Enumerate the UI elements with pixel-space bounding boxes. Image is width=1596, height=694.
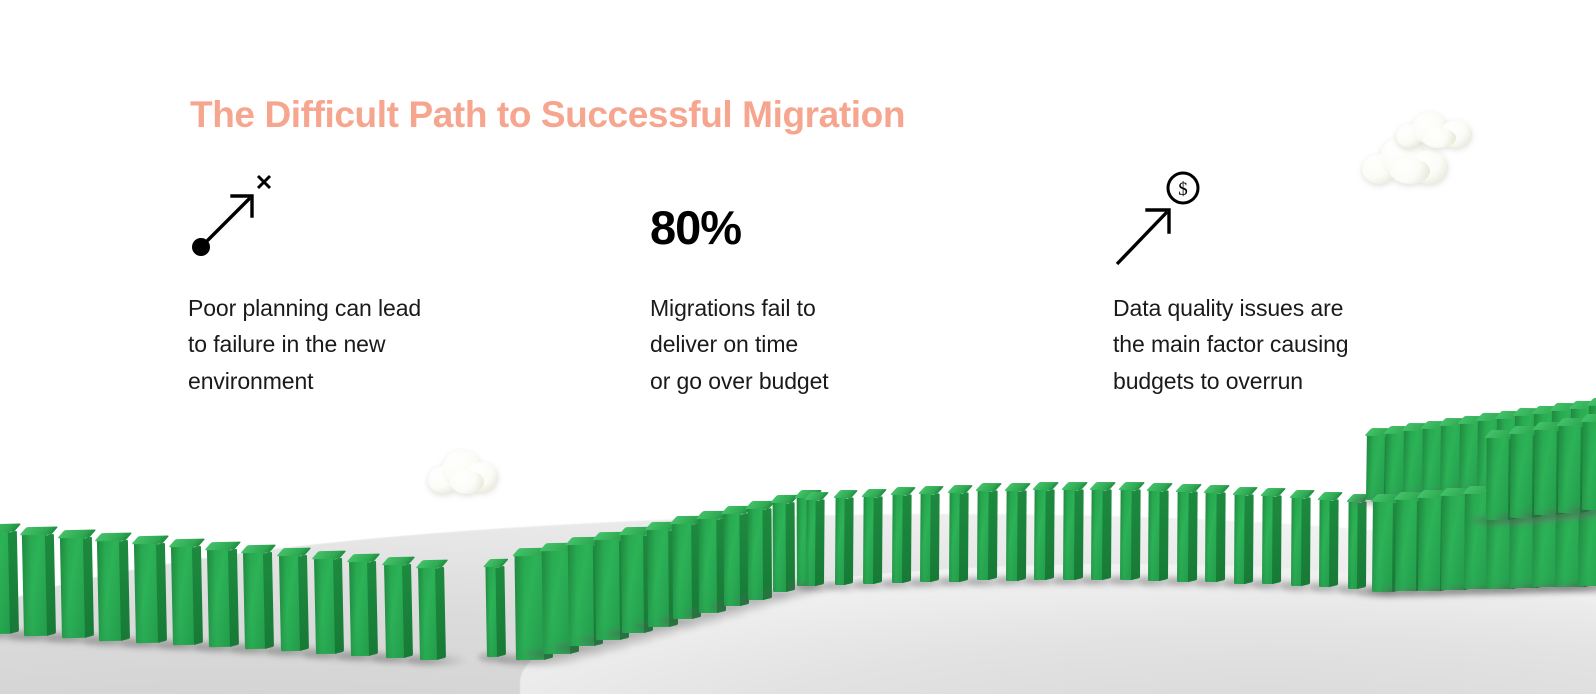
stat-value-80-percent: 80% bbox=[650, 204, 741, 251]
stat-column-1-line-2: to failure in the new bbox=[188, 326, 518, 362]
domino-shadow bbox=[1371, 491, 1434, 506]
stat-column-1-line-3: environment bbox=[188, 363, 518, 399]
stat-column-3-line-2: the main factor causing bbox=[1113, 326, 1443, 362]
stat-column-1-line-1: Poor planning can lead bbox=[188, 290, 518, 326]
cloud-small-top-right-icon bbox=[1396, 110, 1482, 150]
domino-tile bbox=[1459, 421, 1482, 491]
domino-shadow bbox=[1494, 511, 1566, 526]
domino-shadow bbox=[1425, 486, 1492, 501]
domino-tile bbox=[1582, 420, 1596, 510]
stat-column-3-text: Data quality issues are the main factor … bbox=[1113, 290, 1443, 399]
domino-tile bbox=[1551, 409, 1577, 482]
domino-shadow bbox=[1352, 493, 1414, 508]
domino-tile bbox=[1366, 434, 1387, 500]
domino-tile bbox=[1534, 428, 1559, 515]
domino-shadow bbox=[1516, 477, 1589, 492]
stat-column-3-visual: $ bbox=[1113, 170, 1473, 282]
domino-tile bbox=[1422, 426, 1444, 494]
domino-tile bbox=[1403, 429, 1425, 497]
arrow-up-right-with-dollar-icon: $ bbox=[1113, 170, 1203, 270]
domino-tile bbox=[1496, 416, 1520, 487]
stats-columns: Poor planning can lead to failure in the… bbox=[0, 170, 1596, 410]
stat-column-1-visual bbox=[188, 170, 548, 282]
domino-shadow bbox=[1480, 480, 1550, 495]
domino-tile bbox=[1510, 432, 1535, 518]
stat-column-2-line-2: deliver on time bbox=[650, 326, 980, 362]
domino-shadow bbox=[1407, 488, 1473, 503]
stat-column-2-line-3: or go over budget bbox=[650, 363, 980, 399]
domino-shadow bbox=[1553, 473, 1596, 488]
domino-shadow bbox=[1542, 506, 1596, 521]
stat-column-2: 80% Migrations fail to deliver on time o… bbox=[650, 170, 1010, 410]
domino-shadow bbox=[1444, 484, 1512, 499]
domino-shadow bbox=[1462, 482, 1531, 497]
domino-tile bbox=[1486, 436, 1511, 520]
domino-shadow bbox=[1571, 471, 1596, 486]
stat-column-1: Poor planning can lead to failure in the… bbox=[188, 170, 548, 410]
domino-tile bbox=[1514, 414, 1539, 486]
domino-shadow bbox=[1518, 508, 1590, 523]
domino-tile bbox=[1440, 424, 1463, 493]
arrow-up-right-with-x-icon bbox=[188, 170, 274, 262]
domino-tile bbox=[1558, 424, 1583, 513]
domino-shadow bbox=[1498, 478, 1570, 493]
stat-column-1-text: Poor planning can lead to failure in the… bbox=[188, 290, 518, 399]
domino-shadow bbox=[1535, 475, 1596, 490]
domino-shadow bbox=[1470, 513, 1542, 528]
stat-column-2-text: Migrations fail to deliver on time or go… bbox=[650, 290, 980, 399]
slide-canvas: The Difficult Path to Successful Migrati… bbox=[0, 0, 1596, 694]
domino-tile bbox=[1385, 431, 1406, 498]
cloud-small-mid-icon bbox=[428, 446, 500, 494]
stat-column-3-line-3: budgets to overrun bbox=[1113, 363, 1443, 399]
domino-shadow bbox=[1389, 489, 1453, 504]
domino-tile bbox=[1588, 404, 1596, 478]
domino-tile bbox=[1477, 419, 1501, 489]
stat-column-3-line-1: Data quality issues are bbox=[1113, 290, 1443, 326]
page-title: The Difficult Path to Successful Migrati… bbox=[190, 94, 905, 137]
domino-tile bbox=[1570, 406, 1596, 480]
stat-column-2-line-1: Migrations fail to bbox=[650, 290, 980, 326]
svg-text:$: $ bbox=[1178, 179, 1188, 200]
domino-tile bbox=[1533, 411, 1559, 483]
stat-column-3: $ Data quality issues are the main facto… bbox=[1113, 170, 1473, 410]
domino-shadow bbox=[1566, 503, 1596, 518]
stat-column-2-visual: 80% bbox=[650, 170, 1010, 282]
